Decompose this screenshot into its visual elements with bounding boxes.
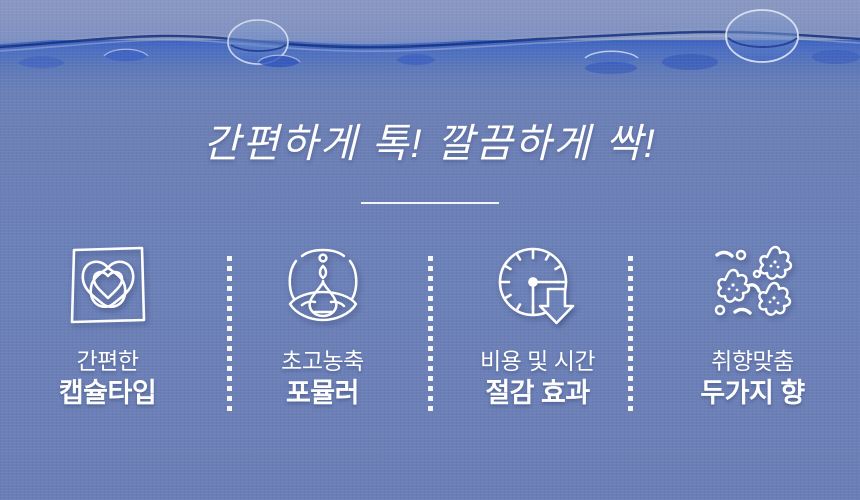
column-separator-2 (428, 256, 433, 412)
water-fade-to-background (0, 70, 860, 108)
page-title: 간편하게 톡! 깔끔하게 싹! (0, 116, 860, 172)
feature-label-bottom: 절감 효과 (480, 376, 595, 410)
column-separator-1 (227, 256, 232, 412)
feature-labels: 비용 및 시간 절감 효과 (480, 346, 595, 410)
feature-labels: 초고농축 포뮬러 (281, 346, 364, 410)
feature-label-bottom: 캡슐타입 (59, 376, 156, 410)
down-arrow-shape (540, 289, 573, 323)
feature-label-bottom: 두가지 향 (700, 376, 804, 410)
feature-label-top: 비용 및 시간 (480, 346, 595, 376)
title-divider (361, 202, 499, 204)
clock-down-arrow-icon (488, 238, 588, 332)
feature-item-savings: 비용 및 시간 절감 효과 (430, 238, 645, 410)
feature-item-formula: 초고농축 포뮬러 (215, 238, 430, 410)
promo-banner: 간편하게 톡! 깔끔하게 싹! 간편한 캡슐타입 (0, 0, 860, 500)
surface-bubble-large-2 (726, 10, 798, 62)
feature-label-top: 초고농축 (281, 346, 364, 376)
feature-label-top: 간편한 (59, 346, 156, 376)
water-droplet-icon (273, 238, 373, 332)
feature-labels: 취향맞춤 두가지 향 (700, 346, 804, 410)
feature-label-top: 취향맞춤 (700, 346, 804, 376)
water-surface-image (0, 0, 860, 108)
feature-label-bottom: 포뮬러 (281, 376, 364, 410)
feature-item-fragrance: 취향맞춤 두가지 향 (645, 238, 860, 410)
feature-labels: 간편한 캡슐타입 (59, 346, 156, 410)
column-separator-3 (628, 256, 633, 412)
capsule-heart-icon (58, 238, 158, 332)
feature-item-capsule: 간편한 캡슐타입 (0, 238, 215, 410)
blossom-flowers-icon (703, 238, 803, 332)
